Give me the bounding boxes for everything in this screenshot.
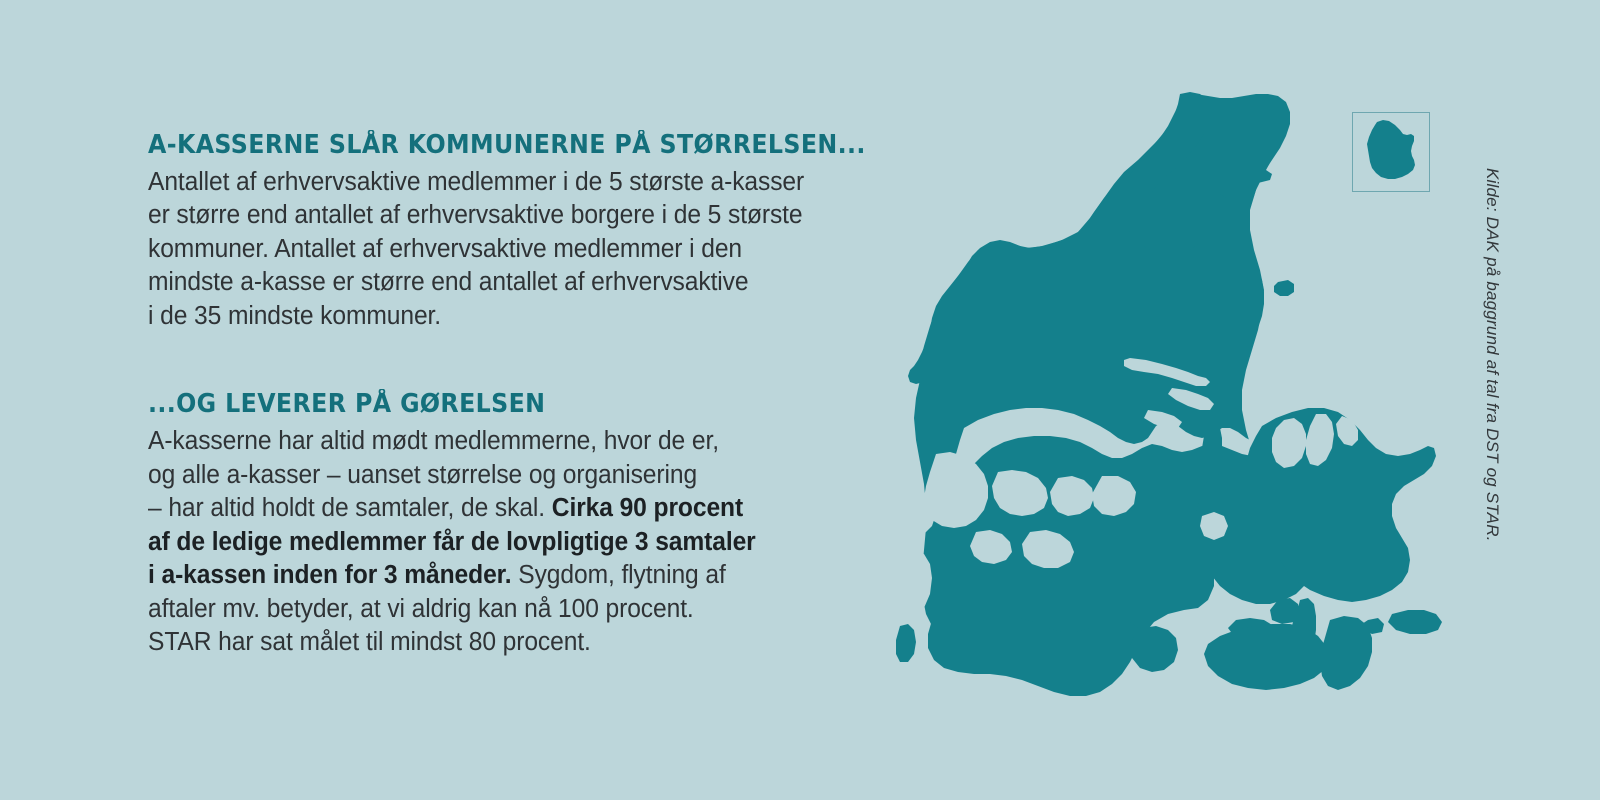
body-line: er større end antallet af erhvervsaktive… [148, 199, 881, 233]
body-line: i a-kassen inden for 3 måneder. Sygdom, … [148, 559, 881, 593]
region-sonderjylland [928, 616, 1140, 696]
body-line: og alle a-kasser – uanset størrelse og o… [148, 459, 881, 493]
fyn-inlet [1200, 512, 1228, 540]
island-anholt [1274, 280, 1294, 296]
body-emphasis: af de ledige medlemmer får de lovpligtig… [148, 528, 756, 556]
body-line: kommuner. Antallet af erhvervsaktive med… [148, 233, 881, 267]
poster-canvas: A-KASSERNE SLÅR KOMMUNERNE PÅ STØRRELSEN… [0, 0, 1600, 800]
headline-2: ...OG LEVERER PÅ GØRELSEN [148, 391, 855, 418]
island-falster [1320, 616, 1372, 690]
body-line: aftaler mv. betyder, at vi aldrig kan nå… [148, 593, 881, 627]
text-block-1: A-KASSERNE SLÅR KOMMUNERNE PÅ STØRRELSEN… [148, 132, 908, 333]
body-line: A-kasserne har altid mødt medlemmerne, h… [148, 425, 881, 459]
bornholm-inset-svg [1353, 113, 1428, 190]
body-emphasis: Cirka 90 procent [552, 494, 743, 522]
island-lolland [1204, 624, 1328, 690]
headline-1: A-KASSERNE SLÅR KOMMUNERNE PÅ STØRRELSEN… [148, 132, 855, 159]
body-paragraph-2: A-kasserne har altid mødt medlemmerne, h… [148, 425, 881, 660]
body-line: – har altid holdt de samtaler, de skal. … [148, 492, 881, 526]
body-line: mindste a-kasse er større end antallet a… [148, 266, 881, 300]
island-moen [1388, 610, 1442, 634]
body-text-run: – har altid holdt de samtaler, de skal. [148, 494, 552, 522]
body-line: i de 35 mindste kommuner. [148, 300, 881, 334]
text-block-2: ...OG LEVERER PÅ GØRELSEN A-kasserne har… [148, 391, 908, 659]
body-line: af de ledige medlemmer får de lovpligtig… [148, 526, 881, 560]
island-als [1130, 626, 1178, 672]
island-bornholm [1367, 120, 1415, 179]
body-line: STAR har sat målet til mindst 80 procent… [148, 626, 881, 660]
source-note: Kilde: DAK på baggrund af tal fra DST og… [1479, 168, 1505, 608]
bornholm-inset [1352, 112, 1430, 192]
body-text-run: Sygdom, flytning af [512, 561, 726, 589]
island-fano [896, 624, 916, 662]
text-column: A-KASSERNE SLÅR KOMMUNERNE PÅ STØRRELSEN… [148, 132, 908, 660]
body-paragraph-1: Antallet af erhvervsaktive medlemmer i d… [148, 166, 881, 334]
body-line: Antallet af erhvervsaktive medlemmer i d… [148, 166, 881, 200]
body-emphasis: i a-kassen inden for 3 måneder. [148, 561, 512, 589]
